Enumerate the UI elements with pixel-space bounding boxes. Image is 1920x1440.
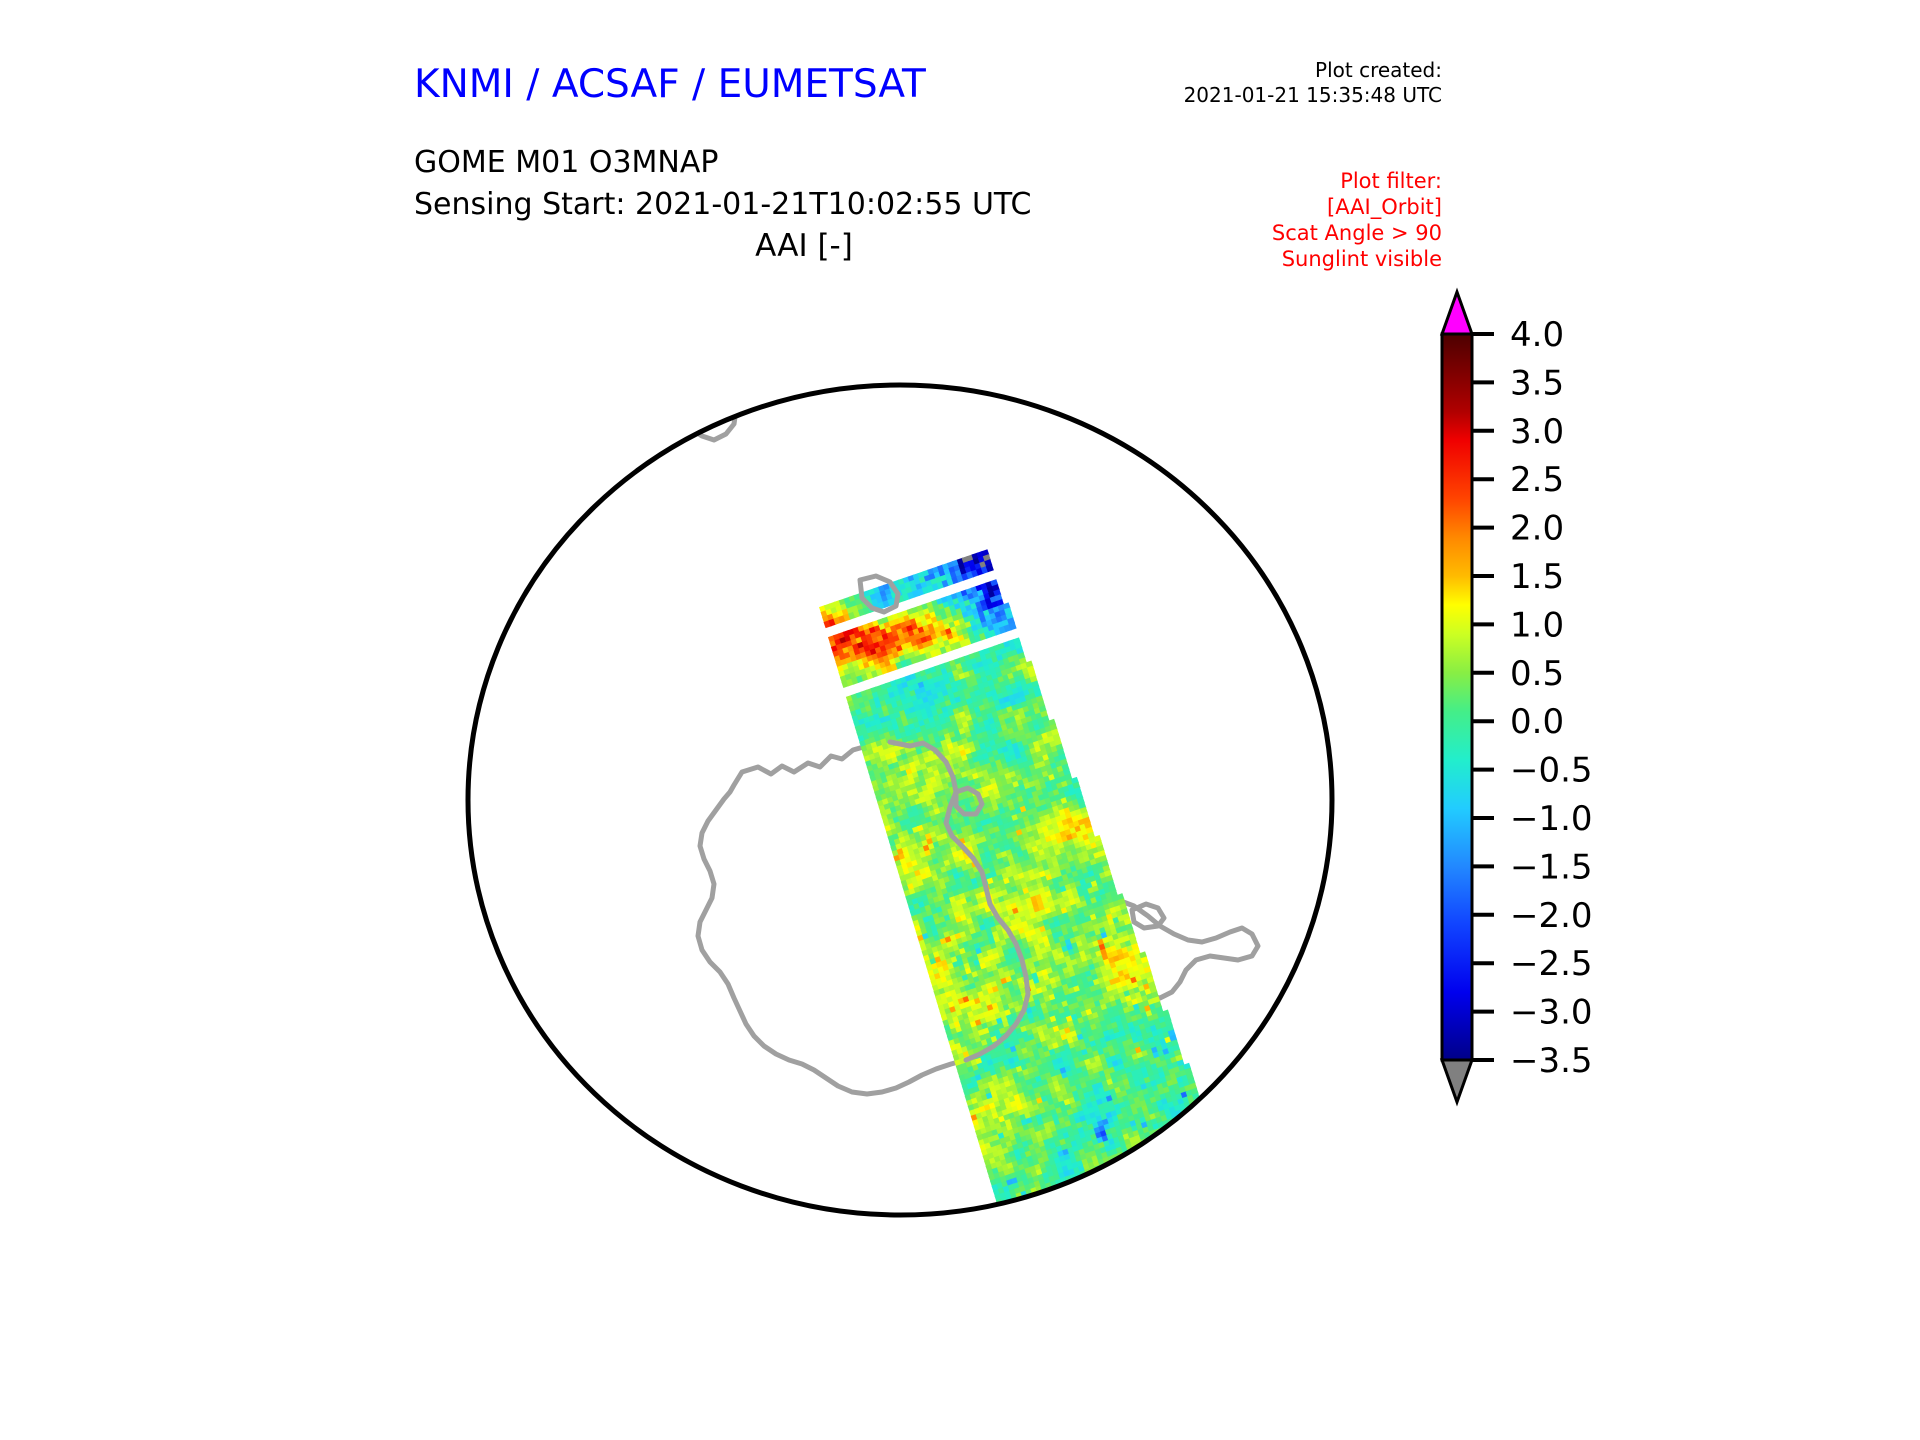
colorbar-tick-label: −0.5 <box>1510 751 1593 791</box>
sensing-start: Sensing Start: 2021-01-21T10:02:55 UTC <box>414 184 1031 226</box>
plot-created-timestamp: 2021-01-21 15:35:48 UTC <box>1030 83 1442 108</box>
plot-filter-title: Plot filter: <box>1120 168 1442 194</box>
page-title: AAI [-] <box>414 228 1194 264</box>
plot-filter-block: Plot filter: [AAI_Orbit] Scat Angle > 90… <box>1120 168 1442 272</box>
colorbar-svg: 4.03.53.02.52.01.51.00.50.0−0.5−1.0−1.5−… <box>1432 282 1852 1110</box>
colorbar-tick-label: −1.0 <box>1510 799 1593 839</box>
colorbar-tick-label: 1.5 <box>1510 557 1564 597</box>
plot-filter-line-2: Scat Angle > 90 <box>1120 220 1442 246</box>
colorbar: 4.03.53.02.52.01.51.00.50.0−0.5−1.0−1.5−… <box>1432 282 1852 1110</box>
plot-created-block: Plot created: 2021-01-21 15:35:48 UTC <box>1030 58 1442 108</box>
colorbar-tick-label: 3.0 <box>1510 412 1564 452</box>
colorbar-tick-label: 4.0 <box>1510 315 1564 355</box>
colorbar-tick-label: −2.0 <box>1510 896 1593 936</box>
colorbar-tick-label: −3.0 <box>1510 993 1593 1033</box>
product-info-block: GOME M01 O3MNAP Sensing Start: 2021-01-2… <box>414 142 1031 226</box>
coastline-tasmania <box>626 324 666 354</box>
colorbar-tick-label: 3.5 <box>1510 363 1564 403</box>
colorbar-tick-label: 0.0 <box>1510 702 1564 742</box>
colorbar-tick-label: 1.0 <box>1510 605 1564 645</box>
plot-filter-line-3: Sunglint visible <box>1120 246 1442 272</box>
product-name: GOME M01 O3MNAP <box>414 142 1031 184</box>
polar-map <box>390 280 1410 1320</box>
colorbar-tick-label: 0.5 <box>1510 654 1564 694</box>
colorbar-tick-label: −3.5 <box>1510 1041 1593 1081</box>
colorbar-tick-label: −1.5 <box>1510 847 1593 887</box>
polar-map-svg <box>390 280 1410 1320</box>
organisation-header: KNMI / ACSAF / EUMETSAT <box>414 62 926 107</box>
plot-filter-line-1: [AAI_Orbit] <box>1120 194 1442 220</box>
coastline-small-island-west <box>462 1028 478 1048</box>
colorbar-tick-label: 2.0 <box>1510 509 1564 549</box>
colorbar-gradient <box>1442 334 1472 1060</box>
colorbar-over-arrow <box>1442 292 1472 334</box>
colorbar-tick-label: 2.5 <box>1510 460 1564 500</box>
colorbar-tick-label: −2.5 <box>1510 944 1593 984</box>
coastline-new-zealand-main-island <box>694 286 772 390</box>
plot-created-label: Plot created: <box>1030 58 1442 83</box>
colorbar-ticks: 4.03.53.02.52.01.51.00.50.0−0.5−1.0−1.5−… <box>1472 315 1593 1081</box>
colorbar-under-arrow <box>1442 1060 1472 1102</box>
